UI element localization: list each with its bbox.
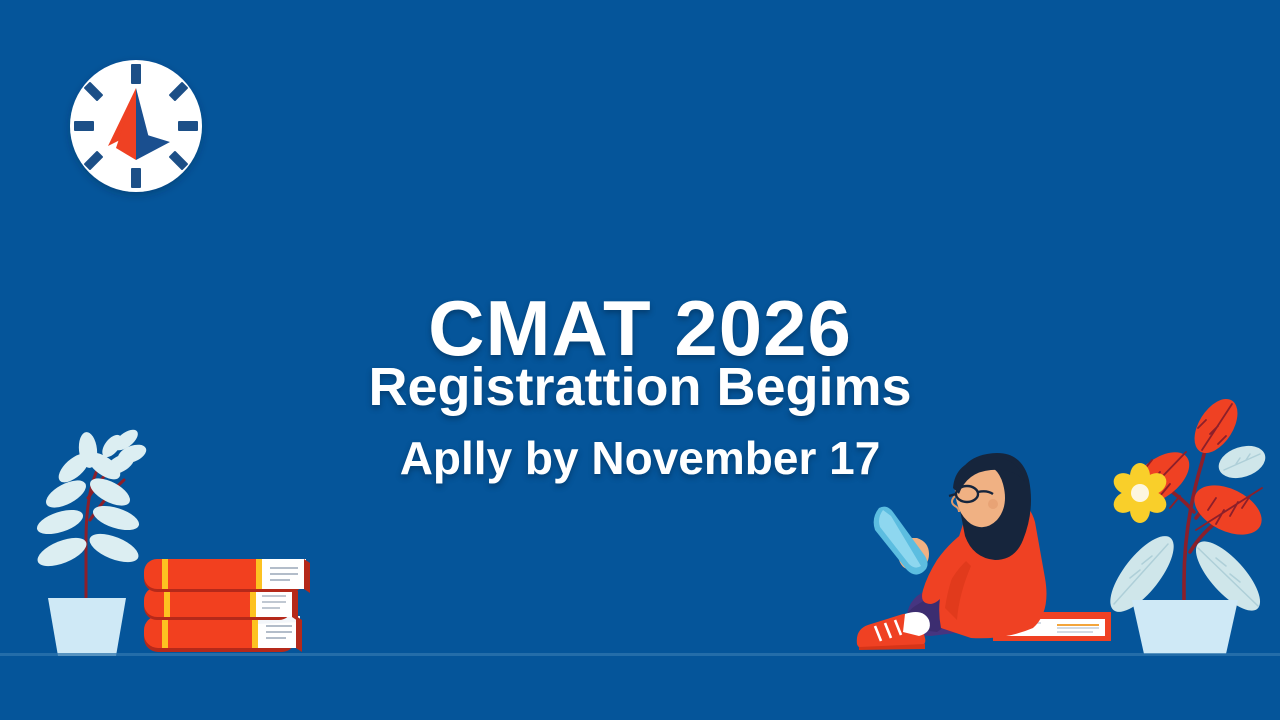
stacked-books [140,552,320,660]
clock-compass-icon [52,42,220,210]
book-middle [144,587,298,621]
seated-woman-reading [845,448,1130,663]
potted-plant-right [1098,392,1278,660]
book-bottom [144,616,302,652]
plant-left-pot [48,598,126,656]
ground-fill [0,656,1280,720]
poster-canvas: CMAT 2026 Registrattion Begims Aplly by … [0,0,1280,720]
headline-line-1: CMAT 2026 [0,288,1280,368]
plant-left-leaves [34,426,149,572]
flower-center [1131,484,1149,502]
reader-ear [988,499,998,509]
book-top [144,559,310,593]
headline-line-2: Registrattion Begims [0,358,1280,416]
plant-right-pot [1132,600,1238,654]
